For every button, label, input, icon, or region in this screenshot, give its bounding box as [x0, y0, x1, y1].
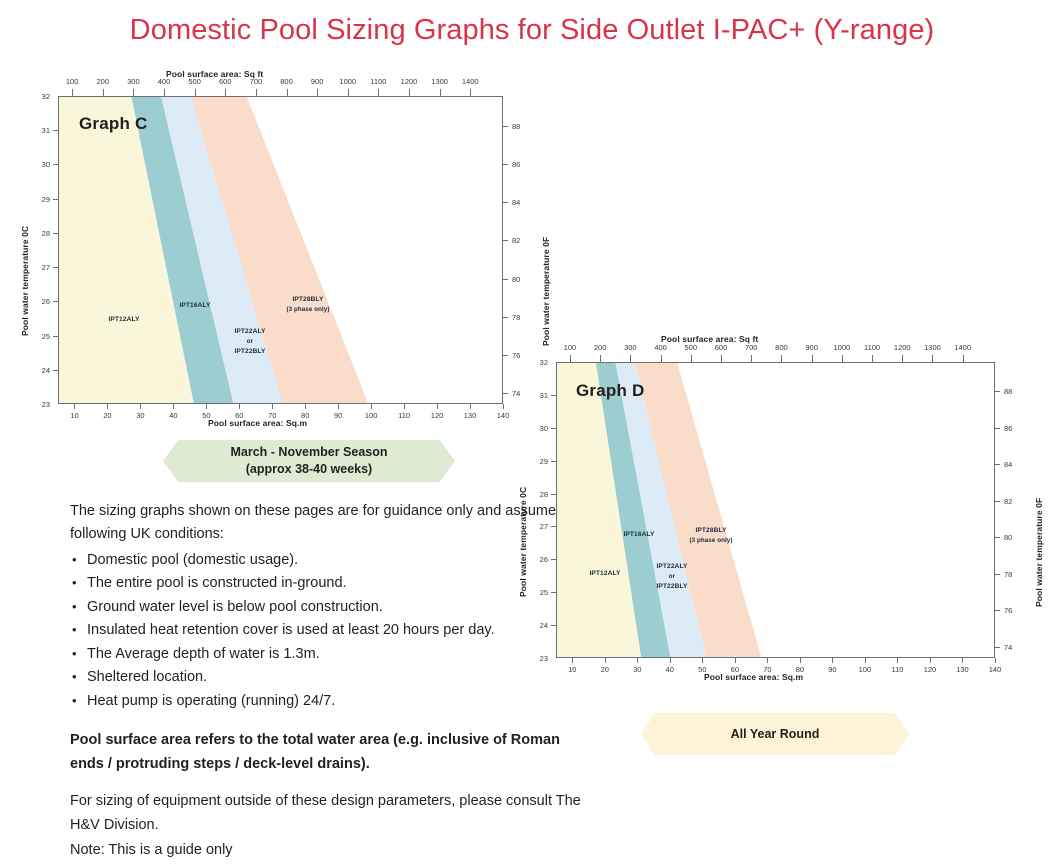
- axis-tick-label-left: 28: [522, 490, 548, 499]
- axis-tick-top: [348, 89, 349, 96]
- axis-tick-bottom: [995, 658, 996, 663]
- graph-d-plot-area: Graph D IPT12ALY IPT16ALY IPT22ALY or IP…: [556, 362, 995, 658]
- axis-tick-label-right: 86: [1004, 424, 1030, 433]
- axis-tick-bottom: [470, 404, 471, 409]
- graph-c-label-ipt28bly-sub: (3 phase only): [286, 306, 329, 313]
- axis-tick-bottom: [605, 658, 606, 663]
- axis-tick-label-right: 88: [1004, 387, 1030, 396]
- graph-d-bands-svg: [557, 363, 995, 658]
- axis-tick-top: [872, 355, 873, 362]
- axis-tick-right: [995, 537, 1000, 538]
- axis-tick-label-left: 29: [24, 195, 50, 204]
- axis-tick-label-right: 88: [512, 122, 538, 131]
- axis-tick-right: [503, 164, 508, 165]
- conditions-footnote-2: Note: This is a guide only: [70, 839, 590, 862]
- axis-tick-left: [551, 461, 556, 462]
- axis-tick-top: [409, 89, 410, 96]
- axis-tick-top: [932, 355, 933, 362]
- axis-tick-label-left: 27: [24, 263, 50, 272]
- axis-tick-label-bottom: 130: [452, 411, 488, 420]
- axis-tick-top: [133, 89, 134, 96]
- axis-tick-top: [470, 89, 471, 96]
- axis-tick-bottom: [670, 658, 671, 663]
- axis-tick-label-bottom: 120: [912, 665, 948, 674]
- axis-tick-bottom: [832, 658, 833, 663]
- axis-tick-top: [440, 89, 441, 96]
- axis-tick-top: [902, 355, 903, 362]
- axis-tick-top: [963, 355, 964, 362]
- axis-tick-bottom: [173, 404, 174, 409]
- axis-tick-bottom: [272, 404, 273, 409]
- axis-tick-bottom: [572, 658, 573, 663]
- axis-tick-label-left: 26: [522, 555, 548, 564]
- condition-item: The entire pool is constructed in-ground…: [70, 572, 590, 595]
- axis-tick-label-right: 82: [512, 236, 538, 245]
- graph-c-label-ipt22bly-text: IPT22BLY: [235, 348, 266, 355]
- axis-tick-label-bottom: 50: [684, 665, 720, 674]
- axis-tick-bottom: [74, 404, 75, 409]
- axis-tick-left: [53, 130, 58, 131]
- axis-tick-label-bottom: 110: [386, 411, 422, 420]
- graph-d-label-ipt12aly-text: IPT12ALY: [590, 570, 621, 577]
- axis-tick-bottom: [305, 404, 306, 409]
- axis-tick-label-bottom: 20: [587, 665, 623, 674]
- axis-tick-bottom: [962, 658, 963, 663]
- graph-d-name: Graph D: [576, 381, 644, 401]
- conditions-block: The sizing graphs shown on these pages a…: [70, 500, 590, 865]
- axis-tick-bottom: [767, 658, 768, 663]
- graph-c-bands-svg: [59, 97, 503, 404]
- axis-tick-top: [630, 355, 631, 362]
- axis-tick-left: [53, 233, 58, 234]
- axis-tick-left: [53, 199, 58, 200]
- axis-tick-top: [195, 89, 196, 96]
- axis-tick-top: [600, 355, 601, 362]
- graph-d-label-ipt28bly-sub: (3 phase only): [689, 537, 732, 544]
- axis-tick-label-top: 1400: [452, 77, 488, 86]
- axis-tick-label-left: 31: [522, 391, 548, 400]
- axis-tick-right: [995, 501, 1000, 502]
- axis-tick-label-bottom: 40: [155, 411, 191, 420]
- axis-tick-left: [551, 428, 556, 429]
- axis-tick-label-bottom: 60: [717, 665, 753, 674]
- graph-c-label-ipt16aly: IPT16ALY: [159, 301, 231, 311]
- axis-tick-right: [995, 428, 1000, 429]
- axis-tick-label-left: 24: [522, 621, 548, 630]
- axis-tick-label-bottom: 30: [122, 411, 158, 420]
- axis-tick-bottom: [503, 404, 504, 409]
- graph-d: Pool surface area: Sq ft Graph D IPT12AL…: [556, 362, 995, 658]
- axis-tick-left: [53, 336, 58, 337]
- axis-tick-top: [317, 89, 318, 96]
- axis-tick-bottom: [239, 404, 240, 409]
- graph-d-label-ipt22bly-text: IPT22BLY: [657, 583, 688, 590]
- axis-tick-label-bottom: 20: [89, 411, 125, 420]
- axis-tick-label-bottom: 50: [188, 411, 224, 420]
- graph-c-label-ipt28bly-text: IPT28BLY: [293, 296, 324, 303]
- axis-tick-right: [995, 464, 1000, 465]
- axis-tick-label-bottom: 110: [879, 665, 915, 674]
- page-root: Domestic Pool Sizing Graphs for Side Out…: [0, 0, 1064, 825]
- axis-tick-top: [691, 355, 692, 362]
- axis-tick-label-bottom: 120: [419, 411, 455, 420]
- axis-tick-label-right: 86: [512, 160, 538, 169]
- axis-tick-left: [551, 395, 556, 396]
- axis-tick-bottom: [107, 404, 108, 409]
- graph-c-label-ipt12aly: IPT12ALY: [84, 315, 164, 325]
- graph-c-plot-area: Graph C IPT12ALY IPT16ALY IPT22ALY or IP…: [58, 96, 503, 404]
- graph-d-season-banner-line1: All Year Round: [731, 726, 820, 743]
- condition-item: Insulated heat retention cover is used a…: [70, 619, 590, 642]
- axis-tick-label-left: 32: [522, 358, 548, 367]
- axis-tick-bottom: [865, 658, 866, 663]
- graph-c-label-ipt22aly: IPT22ALY or IPT22BLY: [211, 327, 289, 358]
- graph-c-label-ipt12aly-text: IPT12ALY: [109, 316, 140, 323]
- graph-d-label-ipt22aly-text: IPT22ALY: [657, 563, 688, 570]
- axis-tick-bottom: [206, 404, 207, 409]
- axis-tick-right: [503, 355, 508, 356]
- axis-tick-left: [53, 370, 58, 371]
- axis-tick-label-bottom: 130: [944, 665, 980, 674]
- axis-tick-label-bottom: 80: [782, 665, 818, 674]
- axis-tick-top: [751, 355, 752, 362]
- axis-tick-top: [225, 89, 226, 96]
- axis-tick-top: [103, 89, 104, 96]
- axis-tick-bottom: [338, 404, 339, 409]
- axis-tick-right: [503, 240, 508, 241]
- graph-d-label-or: or: [669, 573, 675, 580]
- condition-item: Heat pump is operating (running) 24/7.: [70, 690, 590, 713]
- graph-d-season-banner: All Year Round: [641, 713, 909, 755]
- axis-tick-label-bottom: 70: [749, 665, 785, 674]
- axis-tick-label-bottom: 140: [977, 665, 1013, 674]
- axis-tick-label-right: 84: [512, 198, 538, 207]
- graph-c-name: Graph C: [79, 114, 147, 134]
- axis-tick-label-top: 1400: [945, 343, 981, 352]
- axis-tick-top: [164, 89, 165, 96]
- axis-tick-bottom: [371, 404, 372, 409]
- graph-d-label-ipt22aly: IPT22ALY or IPT22BLY: [633, 562, 711, 593]
- graph-c-season-banner-line1: March - November Season: [231, 444, 388, 461]
- axis-tick-label-left: 28: [24, 229, 50, 238]
- axis-tick-label-bottom: 80: [287, 411, 323, 420]
- axis-tick-right: [503, 126, 508, 127]
- graph-c-label-or: or: [247, 338, 253, 345]
- axis-tick-left: [53, 267, 58, 268]
- graph-c-right-axis-title: Pool water temperature 0F: [541, 237, 551, 346]
- graph-c-label-ipt16aly-text: IPT16ALY: [180, 302, 211, 309]
- graph-c: Pool surface area: Sq ft Graph C IPT12AL…: [58, 96, 503, 404]
- graph-d-label-ipt16aly-text: IPT16ALY: [624, 531, 655, 538]
- axis-tick-left: [551, 625, 556, 626]
- axis-tick-label-bottom: 60: [221, 411, 257, 420]
- axis-tick-label-bottom: 100: [353, 411, 389, 420]
- axis-tick-right: [503, 279, 508, 280]
- axis-tick-label-bottom: 100: [847, 665, 883, 674]
- axis-tick-label-left: 30: [24, 160, 50, 169]
- graph-d-label-ipt16aly: IPT16ALY: [603, 530, 675, 540]
- axis-tick-bottom: [735, 658, 736, 663]
- axis-tick-bottom: [800, 658, 801, 663]
- condition-item: Domestic pool (domestic usage).: [70, 549, 590, 572]
- axis-tick-left: [551, 526, 556, 527]
- axis-tick-top: [781, 355, 782, 362]
- axis-tick-right: [995, 647, 1000, 648]
- graph-d-left-axis-title: Pool water temperature 0C: [518, 487, 528, 597]
- condition-item: Ground water level is below pool constru…: [70, 596, 590, 619]
- conditions-list: Domestic pool (domestic usage).The entir…: [70, 549, 590, 713]
- page-title: Domestic Pool Sizing Graphs for Side Out…: [0, 14, 1064, 47]
- axis-tick-top: [721, 355, 722, 362]
- axis-tick-label-left: 27: [522, 522, 548, 531]
- axis-tick-left: [551, 494, 556, 495]
- axis-tick-top: [256, 89, 257, 96]
- axis-tick-right: [503, 393, 508, 394]
- axis-tick-label-right: 76: [1004, 606, 1030, 615]
- axis-tick-bottom: [437, 404, 438, 409]
- axis-tick-label-left: 26: [24, 297, 50, 306]
- conditions-footnote-1: For sizing of equipment outside of these…: [70, 790, 590, 837]
- axis-tick-label-right: 74: [1004, 643, 1030, 652]
- axis-tick-right: [995, 391, 1000, 392]
- graph-c-label-ipt22aly-text: IPT22ALY: [235, 328, 266, 335]
- axis-tick-top: [570, 355, 571, 362]
- axis-tick-label-bottom: 10: [554, 665, 590, 674]
- axis-tick-label-left: 25: [522, 588, 548, 597]
- graph-d-label-ipt28bly-text: IPT28BLY: [696, 527, 727, 534]
- axis-tick-top: [72, 89, 73, 96]
- graph-c-season-banner-line2: (approx 38-40 weeks): [231, 461, 388, 478]
- condition-item: The Average depth of water is 1.3m.: [70, 643, 590, 666]
- axis-tick-top: [661, 355, 662, 362]
- conditions-intro: The sizing graphs shown on these pages a…: [70, 500, 590, 547]
- axis-tick-bottom: [140, 404, 141, 409]
- axis-tick-label-right: 80: [512, 275, 538, 284]
- axis-tick-left: [53, 301, 58, 302]
- axis-tick-bottom: [404, 404, 405, 409]
- graph-c-left-axis-title: Pool water temperature 0C: [20, 226, 30, 336]
- axis-tick-label-bottom: 30: [619, 665, 655, 674]
- axis-tick-label-bottom: 40: [652, 665, 688, 674]
- axis-tick-left: [551, 592, 556, 593]
- axis-tick-right: [503, 202, 508, 203]
- axis-tick-label-left: 23: [24, 400, 50, 409]
- axis-tick-label-left: 30: [522, 424, 548, 433]
- axis-tick-bottom: [930, 658, 931, 663]
- graph-d-right-axis-title: Pool water temperature 0F: [1034, 498, 1044, 607]
- axis-tick-label-right: 78: [512, 313, 538, 322]
- axis-tick-top: [812, 355, 813, 362]
- axis-tick-right: [995, 610, 1000, 611]
- graph-c-label-ipt28bly: IPT28BLY (3 phase only): [264, 295, 352, 315]
- conditions-emphasis: Pool surface area refers to the total wa…: [70, 729, 590, 776]
- axis-tick-label-right: 80: [1004, 533, 1030, 542]
- axis-tick-bottom: [897, 658, 898, 663]
- graph-d-label-ipt28bly: IPT28BLY (3 phase only): [667, 526, 755, 546]
- axis-tick-bottom: [637, 658, 638, 663]
- axis-tick-label-left: 23: [522, 654, 548, 663]
- axis-tick-left: [53, 164, 58, 165]
- axis-tick-label-left: 25: [24, 332, 50, 341]
- axis-tick-left: [551, 559, 556, 560]
- graph-c-season-banner: March - November Season (approx 38-40 we…: [163, 440, 455, 482]
- axis-tick-label-left: 24: [24, 366, 50, 375]
- axis-tick-top: [378, 89, 379, 96]
- axis-tick-label-right: 82: [1004, 497, 1030, 506]
- axis-tick-label-bottom: 140: [485, 411, 521, 420]
- axis-tick-label-right: 78: [1004, 570, 1030, 579]
- axis-tick-top: [842, 355, 843, 362]
- condition-item: Sheltered location.: [70, 666, 590, 689]
- axis-tick-right: [995, 574, 1000, 575]
- axis-tick-top: [287, 89, 288, 96]
- axis-tick-right: [503, 317, 508, 318]
- axis-tick-bottom: [702, 658, 703, 663]
- axis-tick-label-bottom: 90: [320, 411, 356, 420]
- axis-tick-label-left: 29: [522, 457, 548, 466]
- axis-tick-label-bottom: 90: [814, 665, 850, 674]
- axis-tick-label-bottom: 10: [56, 411, 92, 420]
- axis-tick-label-bottom: 70: [254, 411, 290, 420]
- axis-tick-label-left: 32: [24, 92, 50, 101]
- axis-tick-label-right: 84: [1004, 460, 1030, 469]
- axis-tick-label-left: 31: [24, 126, 50, 135]
